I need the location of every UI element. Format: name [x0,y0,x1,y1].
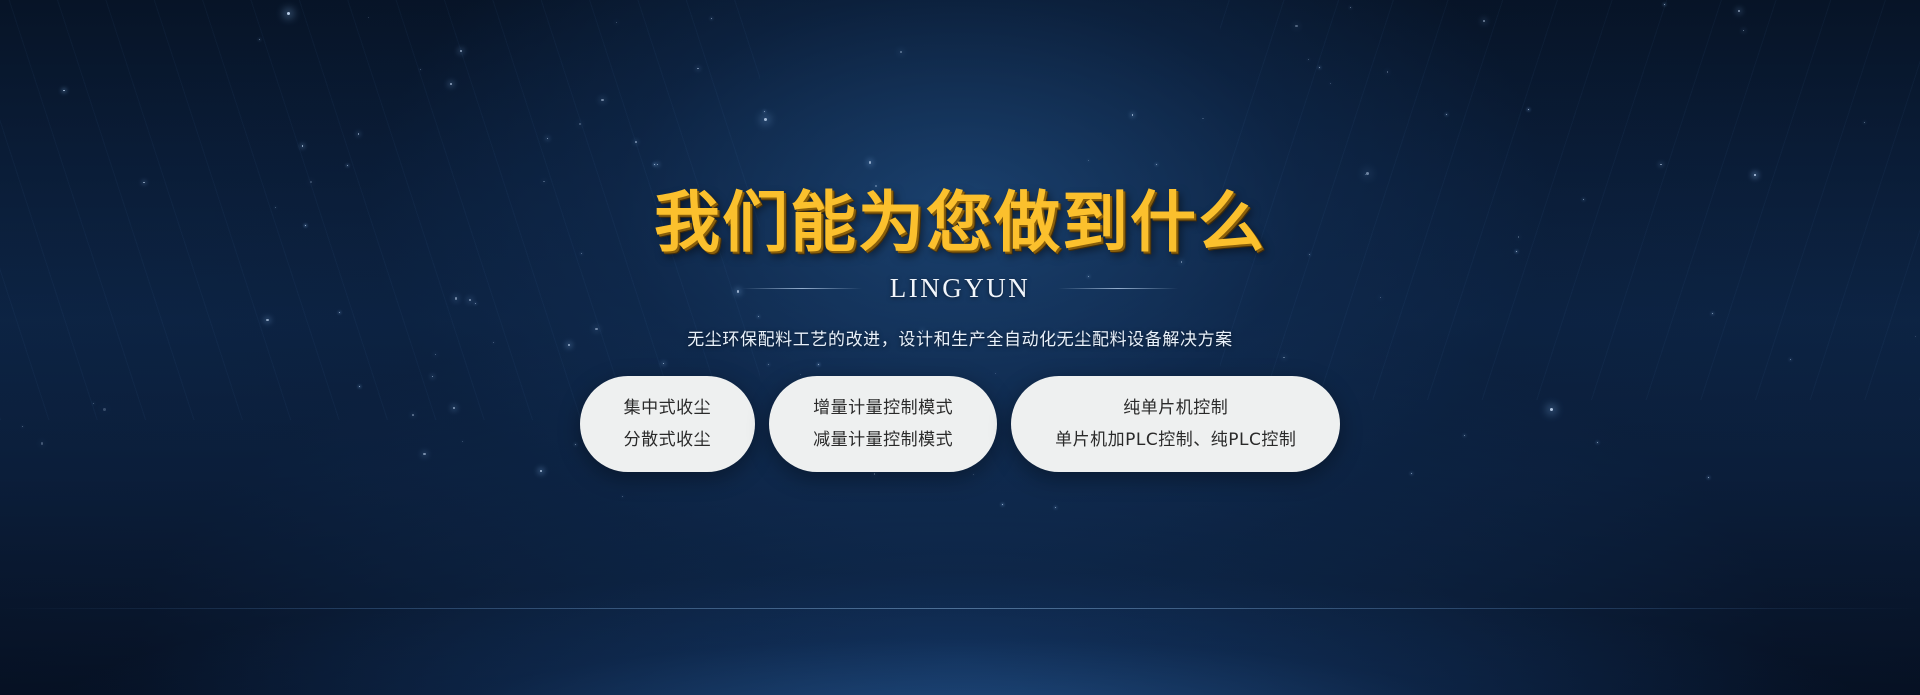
mesh-glow [0,505,1920,695]
feature-card[interactable]: 纯单片机控制单片机加PLC控制、纯PLC控制 [1011,376,1340,472]
feature-card-line-1: 增量计量控制模式 [813,399,953,418]
star-particle [973,474,974,475]
hero-banner: 我们能为您做到什么 LINGYUN 无尘环保配料工艺的改进，设计和生产全自动化无… [0,0,1920,695]
feature-card[interactable]: 增量计量控制模式减量计量控制模式 [769,376,997,472]
star-particle [622,496,623,497]
star-particle [1002,504,1003,505]
feature-card-list: 集中式收尘分散式收尘增量计量控制模式减量计量控制模式纯单片机控制单片机加PLC控… [580,376,1341,472]
star-particle [1055,507,1056,508]
star-particle [1411,473,1412,474]
feature-card[interactable]: 集中式收尘分散式收尘 [580,376,756,472]
divider-line-right [1058,288,1178,289]
brand-name: LINGYUN [890,273,1030,304]
star-particle [874,473,876,475]
page-title: 我们能为您做到什么 [654,188,1266,257]
star-particle [1708,477,1709,478]
feature-card-line-2: 分散式收尘 [624,431,712,450]
bottom-mesh-decoration [0,485,1920,695]
divider-line-left [742,288,862,289]
feature-card-line-1: 集中式收尘 [624,399,712,418]
feature-card-line-1: 纯单片机控制 [1123,399,1228,418]
hero-description: 无尘环保配料工艺的改进，设计和生产全自动化无尘配料设备解决方案 [687,325,1233,350]
hero-content: 我们能为您做到什么 LINGYUN 无尘环保配料工艺的改进，设计和生产全自动化无… [0,0,1920,472]
brand-subtitle-row: LINGYUN [742,273,1178,304]
feature-card-line-2: 单片机加PLC控制、纯PLC控制 [1055,431,1296,450]
feature-card-line-2: 减量计量控制模式 [813,431,953,450]
mesh-horizon-line [0,608,1920,609]
